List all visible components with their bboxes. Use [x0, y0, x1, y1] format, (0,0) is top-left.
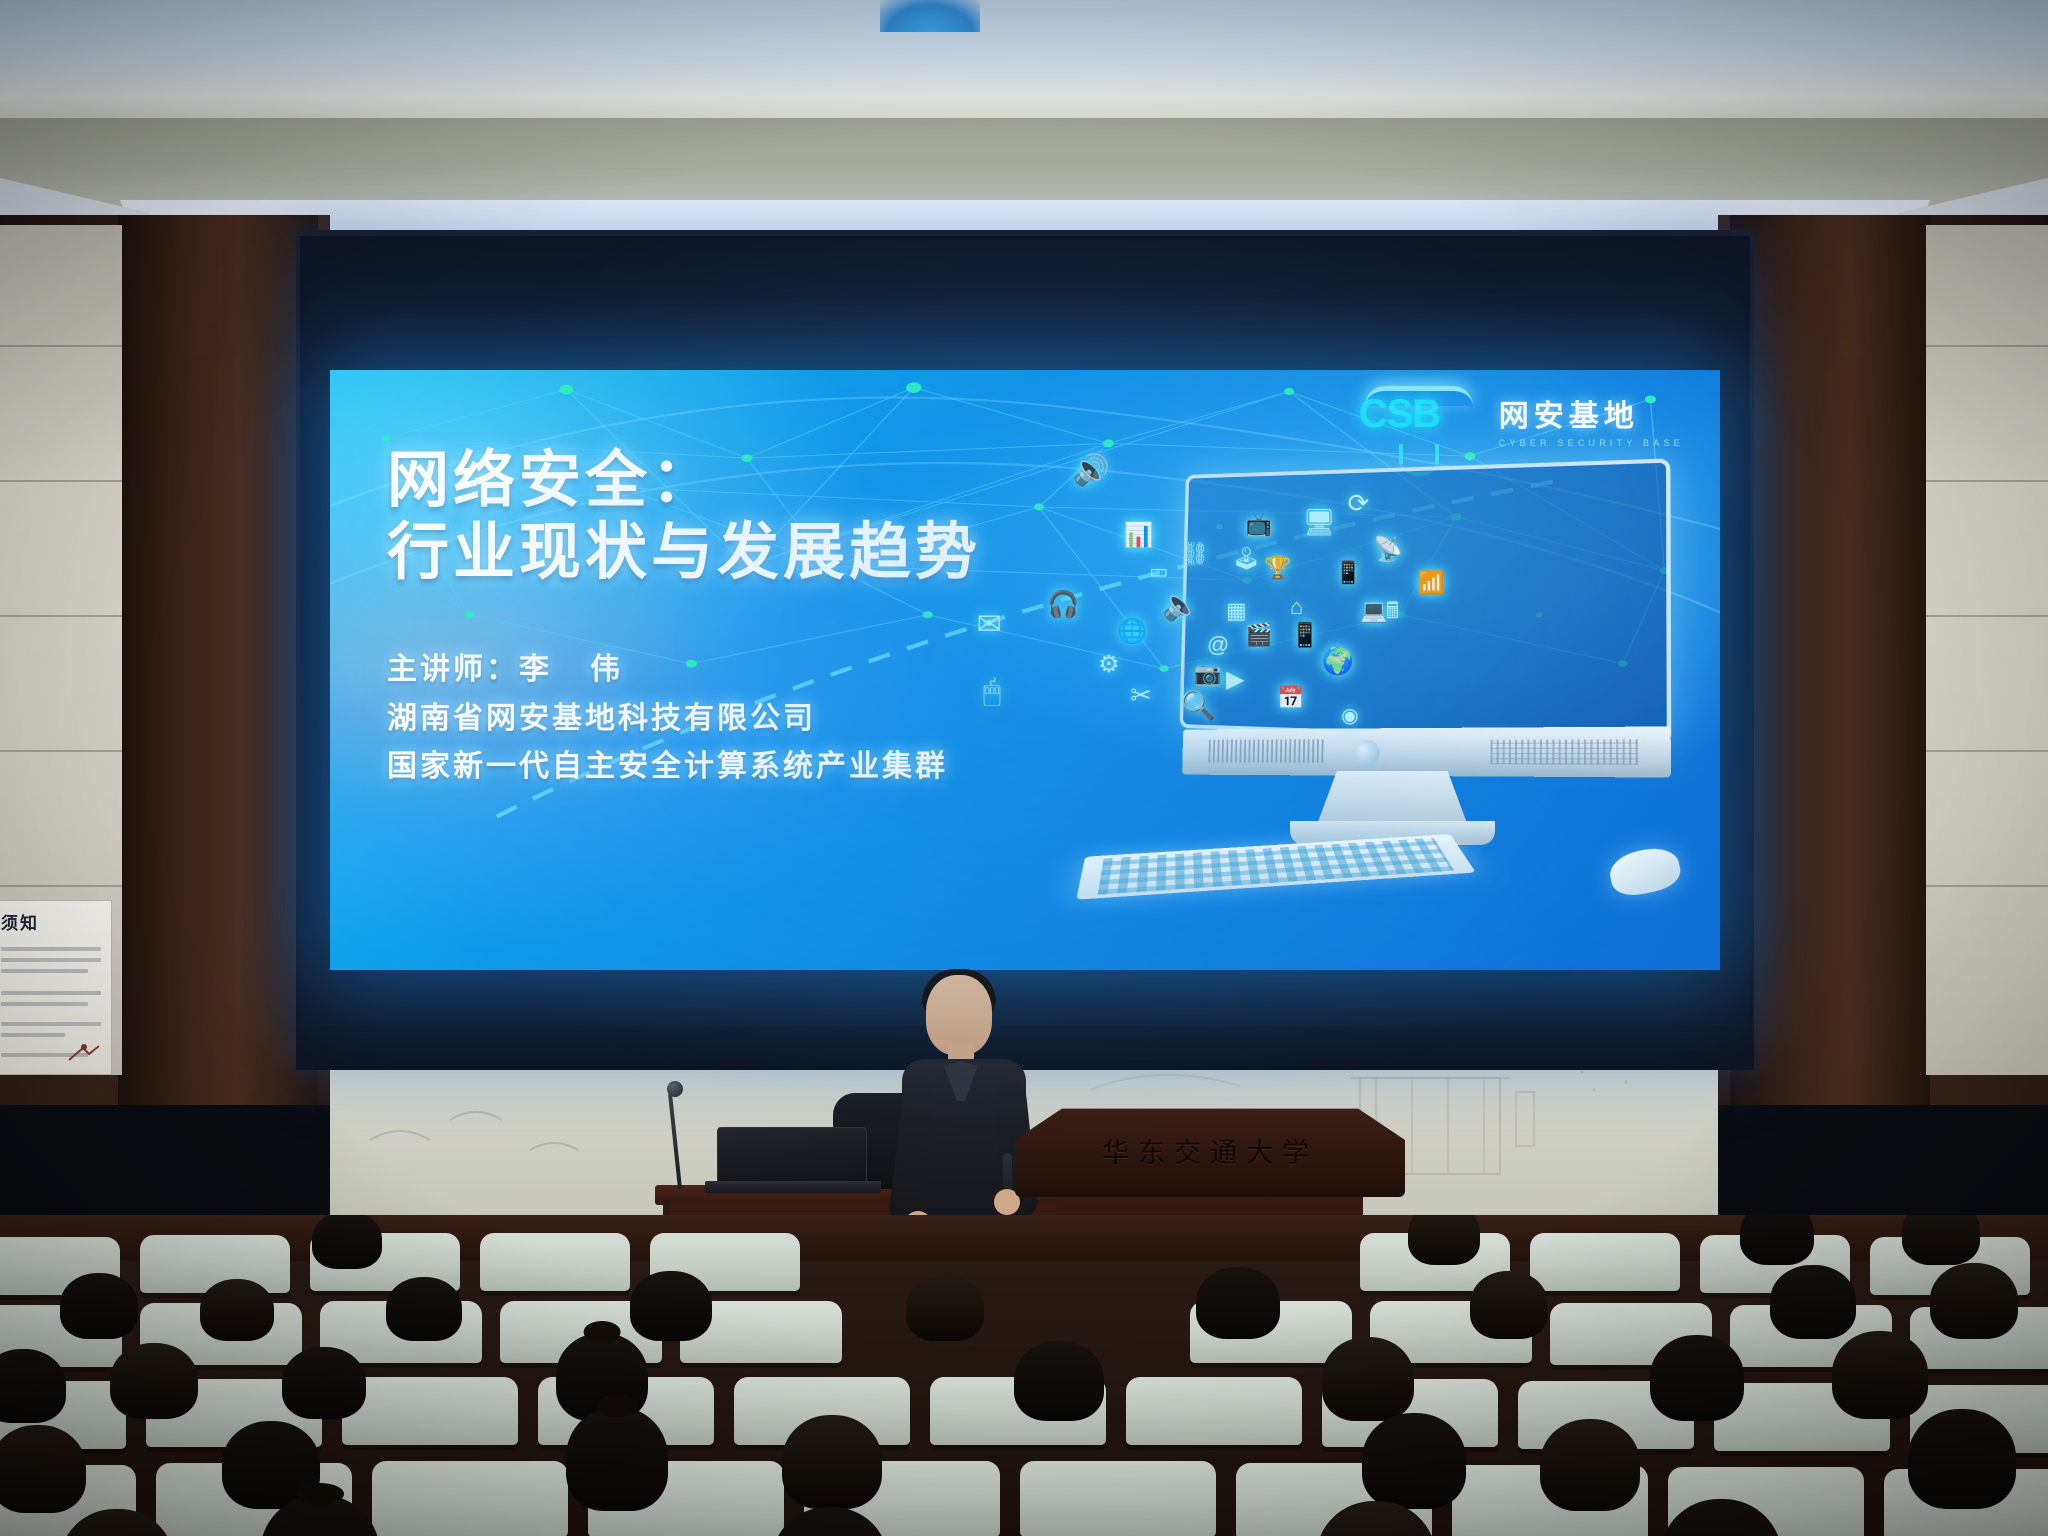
slide-cluster-line: 国家新一代自主安全计算系统产业集群: [387, 743, 948, 792]
notice-title: 须知: [0, 901, 111, 934]
chart-icon: 📊: [1124, 524, 1154, 548]
audience-head: [0, 1425, 86, 1513]
monitor-icon: 🖥: [1303, 509, 1336, 535]
barcode-icon: ▦: [1226, 600, 1247, 622]
slide-title: 网络安全： 行业现状与发展趋势: [387, 445, 981, 589]
ceiling-beam: [0, 118, 2048, 208]
calculator-icon: 🖩: [1386, 600, 1399, 622]
csb-logo-cn-name: 网安基地: [1499, 391, 1684, 435]
ceiling-blue-reflection: [880, 0, 980, 32]
tools-icon: ✂: [1130, 682, 1152, 708]
acoustic-panels-right: [1926, 225, 2048, 1075]
podium-header: 华东交通大学: [1015, 1105, 1405, 1197]
camera-icon: 📷: [1194, 663, 1221, 685]
audience-head: [1832, 1331, 1928, 1419]
audience-head: [1014, 1341, 1104, 1421]
audience-seating: [0, 1215, 2048, 1536]
mic-head-icon: [667, 1081, 683, 1097]
audience-head: [630, 1271, 712, 1341]
mouse-graphic: [1606, 843, 1684, 900]
seat: [480, 1233, 630, 1291]
auditorium-scene: 须知: [0, 0, 2048, 1536]
audience-head: [312, 1215, 382, 1269]
at-icon: @: [1207, 634, 1229, 656]
seat: [1020, 1461, 1216, 1536]
headphones-icon: 🎧: [1047, 591, 1079, 617]
calendar-icon: 📅: [1277, 687, 1304, 709]
presentation-slide[interactable]: CSB 网安基地 CYBER SECURITY BASE 🔊 📊 🎧 ✉ 🖱 ⚙…: [330, 370, 1720, 970]
film-reel-icon: ◉: [1341, 706, 1358, 726]
keyboard-graphic: [1076, 834, 1475, 900]
seat: [372, 1461, 568, 1536]
audience-head: [386, 1277, 462, 1341]
audience-head: [1470, 1271, 1548, 1339]
seat: [342, 1377, 518, 1445]
laptop-icon: 💻: [1360, 600, 1387, 622]
presenter-head: [926, 975, 992, 1055]
audience-head: [1408, 1215, 1480, 1265]
audience-head: [1362, 1413, 1466, 1509]
antenna-icon: 📡: [1373, 538, 1403, 562]
slide-title-line2: 行业现状与发展趋势: [387, 517, 981, 589]
audience-head: [110, 1343, 198, 1419]
audience-head: [1650, 1335, 1744, 1421]
audience-head: [60, 1273, 138, 1339]
csb-logo-mark-icon: CSB: [1359, 392, 1485, 448]
wood-column-right: [1730, 215, 1930, 1105]
wifi-icon: 📶: [1418, 572, 1445, 594]
imac-chin: [1182, 726, 1670, 777]
slide-company-line: 湖南省网安基地科技有限公司: [387, 695, 948, 744]
home-icon: ⌂: [1290, 596, 1303, 618]
csb-logo-tagline: CYBER SECURITY BASE: [1499, 438, 1684, 448]
speaker-icon: 🔊: [1073, 456, 1110, 486]
seat: [1530, 1233, 1680, 1291]
audience-head: [1770, 1265, 1856, 1339]
imac-graphic: 🔊 📊 🎧 ✉ 🖱 ⚙ 🌐 ✂ 🔍 🔈 ⛓ 🕹 🏆 📺 🖥 ⟳ 📡 📶 📱 💻 …: [1060, 466, 1699, 946]
sitemap-icon: ⛓: [1181, 543, 1209, 565]
imac-logo-icon: [1354, 740, 1380, 766]
laptop-base: [705, 1181, 881, 1193]
audience-head: [1930, 1263, 2018, 1339]
wood-column-left: [118, 215, 318, 1105]
audience-head: [1908, 1409, 2016, 1509]
slide-presenter-label: 主讲师：李: [387, 653, 552, 686]
imac-display: [1180, 458, 1671, 744]
audience-head: [1196, 1267, 1280, 1339]
network-globe-icon: 🌍: [1322, 648, 1354, 674]
audience-head: [282, 1347, 366, 1419]
slide-subtitle-block: 主讲师：李伟 湖南省网安基地科技有限公司 国家新一代自主安全计算系统产业集群: [387, 646, 948, 792]
refresh-icon: ⟳: [1347, 490, 1369, 516]
battery-icon: ▭: [1149, 562, 1168, 582]
volume-icon: 🔈: [1162, 591, 1199, 621]
audience-head: [1902, 1215, 1980, 1265]
slide-title-line1: 网络安全：: [387, 445, 981, 517]
audience-head: [566, 1407, 668, 1511]
podium-calligraphy: 华东交通大学: [1015, 1131, 1405, 1170]
joystick-icon: 🕹: [1232, 548, 1260, 570]
audience-head: [782, 1415, 882, 1509]
imac-stand: [1316, 771, 1469, 829]
ceiling-upper: [0, 0, 2048, 130]
audience-head: [1740, 1215, 1814, 1265]
globe-icon: 🌐: [1117, 620, 1147, 644]
clapperboard-icon: 🎬: [1245, 624, 1272, 646]
tv-icon: 📺: [1245, 514, 1272, 536]
gear-icon: ⚙: [1098, 653, 1120, 677]
csb-logo-chinese: 网安基地 CYBER SECURITY BASE: [1499, 391, 1684, 448]
notice-body: [0, 934, 111, 1057]
csb-logo: CSB 网安基地 CYBER SECURITY BASE: [1359, 391, 1684, 448]
notice-seal-icon: [67, 1040, 101, 1066]
smartphone-icon: 📱: [1290, 624, 1320, 648]
wall-notice-board: 须知: [0, 900, 112, 1075]
play-icon: ▶: [1226, 668, 1244, 692]
slide-presenter-line: 主讲师：李伟: [387, 646, 948, 695]
seat: [1126, 1377, 1302, 1445]
envelope-icon: ✉: [977, 610, 1002, 640]
magnifier-icon: 🔍: [1181, 692, 1216, 720]
audience-head: [200, 1279, 274, 1341]
trophy-icon: 🏆: [1264, 557, 1291, 579]
window-cursor-icon: 🖱: [983, 677, 1001, 707]
laptop-screen: [717, 1127, 867, 1187]
tablet-icon: 📱: [1335, 562, 1362, 584]
audience-head: [1540, 1419, 1640, 1511]
audience-head: [906, 1275, 984, 1341]
audience-head: [1322, 1337, 1414, 1421]
slide-presenter-name: 伟: [590, 653, 623, 686]
